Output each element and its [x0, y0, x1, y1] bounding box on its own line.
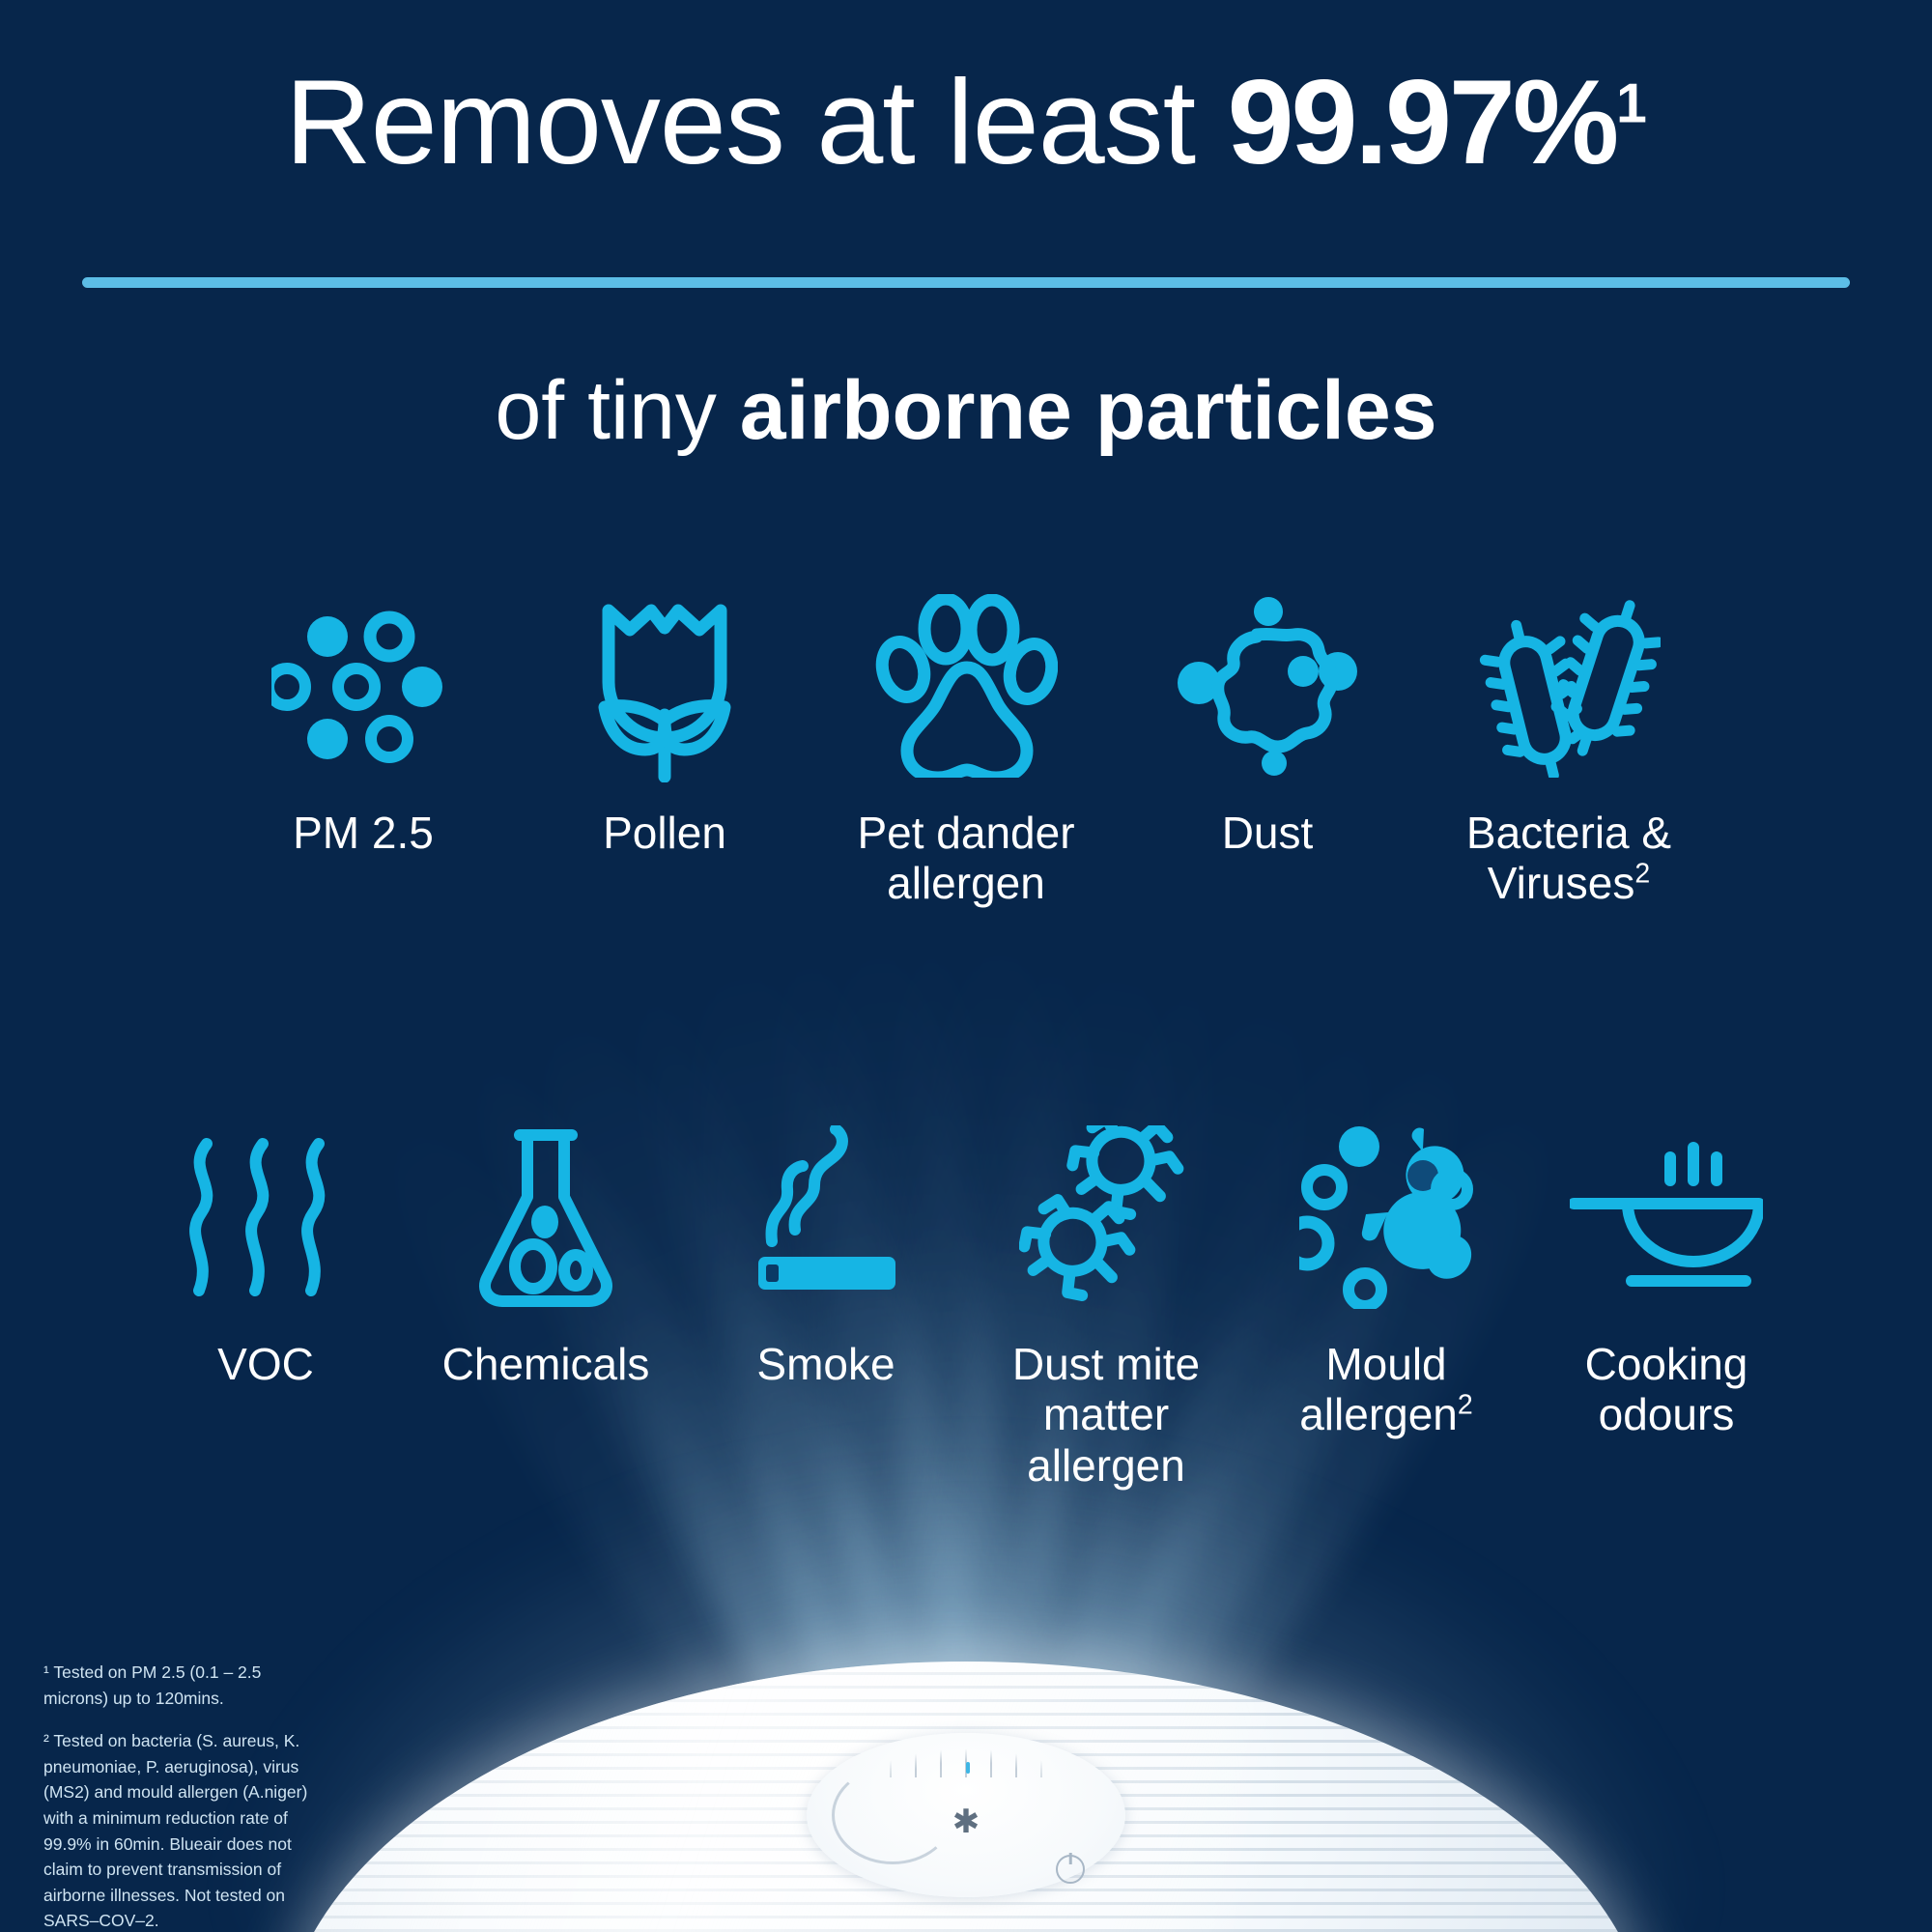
- subtitle-prefix: of tiny: [495, 364, 739, 457]
- pollutant-item-dust: Dust: [1117, 589, 1418, 909]
- pollutant-row-1: PM 2.5 Pollen: [0, 589, 1932, 909]
- dust-mite-icon: [1019, 1121, 1193, 1314]
- pollutant-label: Dust: [1222, 808, 1314, 858]
- pollutant-item-voc: VOC: [126, 1121, 406, 1491]
- pollutant-item-cooking-odours: Cooking odours: [1526, 1121, 1806, 1491]
- pollutant-item-mould: Mould allergen2: [1246, 1121, 1526, 1491]
- pollutant-item-chemicals: Chemicals: [406, 1121, 686, 1491]
- pollutant-label: Bacteria & Viruses2: [1466, 808, 1671, 909]
- pollutant-label: Cooking odours: [1585, 1339, 1748, 1440]
- pollutant-item-dust-mite: Dust mite matter allergen: [966, 1121, 1246, 1491]
- pollutant-label: Dust mite matter allergen: [966, 1339, 1246, 1491]
- pollutant-item-pollen: Pollen: [514, 589, 815, 909]
- device-highlight: [280, 1662, 1278, 1932]
- pollutant-item-bacteria-viruses: Bacteria & Viruses2: [1418, 589, 1719, 909]
- page-subtitle: of tiny airborne particles: [0, 365, 1932, 457]
- cigarette-icon: [749, 1121, 903, 1314]
- dust-blob-icon: [1176, 589, 1359, 782]
- particles-icon: [271, 589, 455, 782]
- page-title: Removes at least 99.97%1: [0, 60, 1932, 186]
- flower-icon: [587, 589, 742, 782]
- subtitle-emphasis: airborne particles: [740, 364, 1437, 457]
- pollutant-label: VOC: [217, 1339, 314, 1389]
- power-button-icon[interactable]: [1056, 1855, 1085, 1884]
- wavy-lines-icon: [184, 1121, 348, 1314]
- pollutant-label: PM 2.5: [293, 808, 434, 858]
- pollutant-label: Mould allergen2: [1299, 1339, 1473, 1440]
- paw-print-icon: [874, 589, 1058, 782]
- footnote-marker: 2: [1458, 1390, 1473, 1421]
- title-footnote-marker: 1: [1616, 73, 1647, 135]
- pollutant-row-2: VOC Chemicals: [0, 1121, 1932, 1491]
- pollutant-label: Chemicals: [442, 1339, 650, 1389]
- footnote-marker: 2: [1634, 859, 1650, 890]
- pollutant-label: Pet dander allergen: [857, 808, 1074, 909]
- pollutant-label: Smoke: [756, 1339, 895, 1389]
- pollutant-item-pet-dander: Pet dander allergen: [815, 589, 1117, 909]
- air-purifier: ✱: [280, 1662, 1652, 1932]
- panel-active-tick: [966, 1762, 970, 1774]
- cooking-pan-icon: [1570, 1121, 1763, 1314]
- mould-spores-icon: [1299, 1121, 1473, 1314]
- brand-logo-icon: ✱: [952, 1805, 980, 1838]
- bacteria-icon: [1477, 589, 1661, 782]
- title-prefix: Removes at least: [285, 56, 1227, 189]
- panel-dial-arc: [832, 1766, 953, 1864]
- control-panel[interactable]: ✱: [807, 1733, 1125, 1897]
- pollutant-item-pm25: PM 2.5: [213, 589, 514, 909]
- divider: [82, 277, 1850, 288]
- flask-icon: [473, 1121, 618, 1314]
- pollutant-label: Pollen: [603, 808, 726, 858]
- pollutant-item-smoke: Smoke: [686, 1121, 966, 1491]
- title-percent: 99.97%: [1228, 56, 1617, 189]
- infographic-canvas: Removes at least 99.97%1 of tiny airborn…: [0, 0, 1932, 1932]
